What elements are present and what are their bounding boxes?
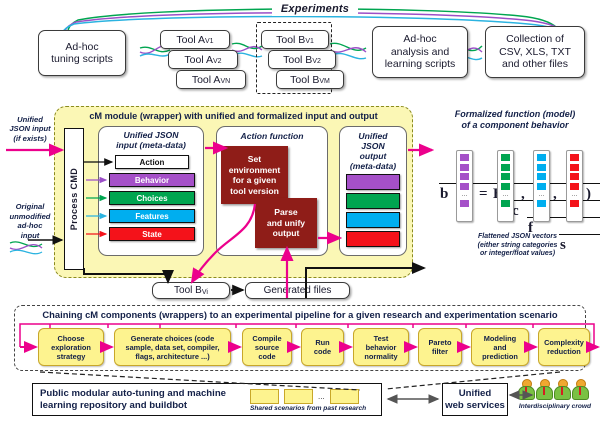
crowd-avatars	[518, 379, 594, 401]
pipeline-node-pareto-filter[interactable]: Pareto filter	[418, 328, 462, 366]
pipeline-node-test-behavior-normality[interactable]: Test behavior normality	[353, 328, 409, 366]
tool-b-v2-box[interactable]: Tool BV2	[268, 50, 336, 69]
shared-scenario-ellipsis: ...	[318, 392, 325, 401]
flattened-json-vectors-caption: Flattened JSON vectors (either string ca…	[440, 232, 595, 260]
pipeline-node-compile-source-code[interactable]: Compile source code	[242, 328, 292, 366]
unified-web-services-box[interactable]: Unified web services	[442, 383, 508, 416]
person-icon	[554, 379, 569, 398]
interdisciplinary-crowd-caption: Interdisciplinary crowd	[512, 403, 598, 410]
shared-scenario-thumbnails: ...	[250, 388, 374, 404]
tool-b-v1-box[interactable]: Tool BV1	[261, 30, 329, 49]
json-row-features[interactable]: Features	[109, 209, 195, 223]
original-adhoc-input-label: Original unmodified ad-hoc input	[2, 200, 58, 242]
formula-title: Formalized function (model) of a compone…	[432, 108, 598, 132]
pipeline-node-modeling-and-prediction[interactable]: Modeling and prediction	[471, 328, 529, 366]
shared-scenario-item[interactable]	[250, 389, 279, 404]
tool-a-v2-box[interactable]: Tool AV2	[168, 50, 238, 69]
equals-sign: =	[479, 186, 488, 203]
comma-2: ,	[553, 186, 557, 203]
output-row-choices[interactable]	[346, 193, 400, 209]
pipeline-title: Chaining cM components (wrappers) to an …	[18, 308, 582, 321]
json-row-choices[interactable]: Choices	[109, 191, 195, 205]
vector-f-column: ...	[533, 150, 550, 222]
person-icon	[536, 379, 551, 398]
action-function-heading: Action function	[218, 130, 326, 142]
adhoc-tuning-scripts-box[interactable]: Ad-hoc tuning scripts	[38, 30, 126, 76]
json-row-action[interactable]: Action	[115, 155, 189, 169]
unified-json-output-heading: Unified JSON output (meta-data)	[341, 129, 405, 173]
vector-s-column: ...	[566, 150, 583, 222]
pipeline-node-complexity-reduction[interactable]: Complexity reduction	[538, 328, 590, 366]
tool-a-v1-box[interactable]: Tool AV1	[160, 30, 230, 49]
generated-files-box[interactable]: Generated files	[245, 282, 350, 299]
process-cmd-column[interactable]: Process CMD	[64, 128, 84, 270]
function-B-close: )	[586, 186, 591, 203]
output-row-features[interactable]	[346, 212, 400, 228]
unified-json-input-label: Unified JSON input (if exists)	[2, 113, 58, 145]
output-row-state[interactable]	[346, 231, 400, 247]
person-icon	[572, 379, 587, 398]
set-environment-box[interactable]: Set environment for a given tool version	[221, 146, 288, 204]
json-row-state[interactable]: State	[109, 227, 195, 241]
public-repository-title: Public modular auto-tuning and machine l…	[40, 386, 260, 413]
comma-1: ,	[521, 186, 525, 203]
vector-b-column: ...	[456, 150, 473, 222]
cm-module-title: cM module (wrapper) with unified and for…	[56, 110, 411, 122]
shared-scenario-item[interactable]	[284, 389, 313, 404]
vector-c-column: ...	[497, 150, 514, 222]
tool-a-vn-box[interactable]: Tool AVN	[176, 70, 246, 89]
tool-b-vm-box[interactable]: Tool BVM	[276, 70, 344, 89]
adhoc-analysis-scripts-box[interactable]: Ad-hoc analysis and learning scripts	[372, 26, 468, 78]
pipeline-node-run-code[interactable]: Run code	[301, 328, 344, 366]
json-row-behavior[interactable]: Behavior	[109, 173, 195, 187]
experiments-label: Experiments	[272, 2, 358, 16]
collection-of-files-box[interactable]: Collection of CSV, XLS, TXT and other fi…	[485, 26, 585, 78]
person-icon	[518, 379, 533, 398]
tool-b-vi-box[interactable]: Tool BVi	[152, 282, 230, 299]
pipeline-node-generate-choices[interactable]: Generate choices (code sample, data set,…	[114, 328, 231, 366]
shared-scenario-item[interactable]	[330, 389, 359, 404]
pipeline-node-choose-exploration-strategy[interactable]: Choose exploration strategy	[38, 328, 104, 366]
shared-scenarios-caption: Shared scenarios from past research	[250, 405, 380, 412]
unified-json-input-heading: Unified JSON input (meta-data)	[100, 129, 202, 151]
output-row-behavior[interactable]	[346, 174, 400, 190]
parse-and-unify-output-box[interactable]: Parse and unify output	[255, 198, 317, 248]
